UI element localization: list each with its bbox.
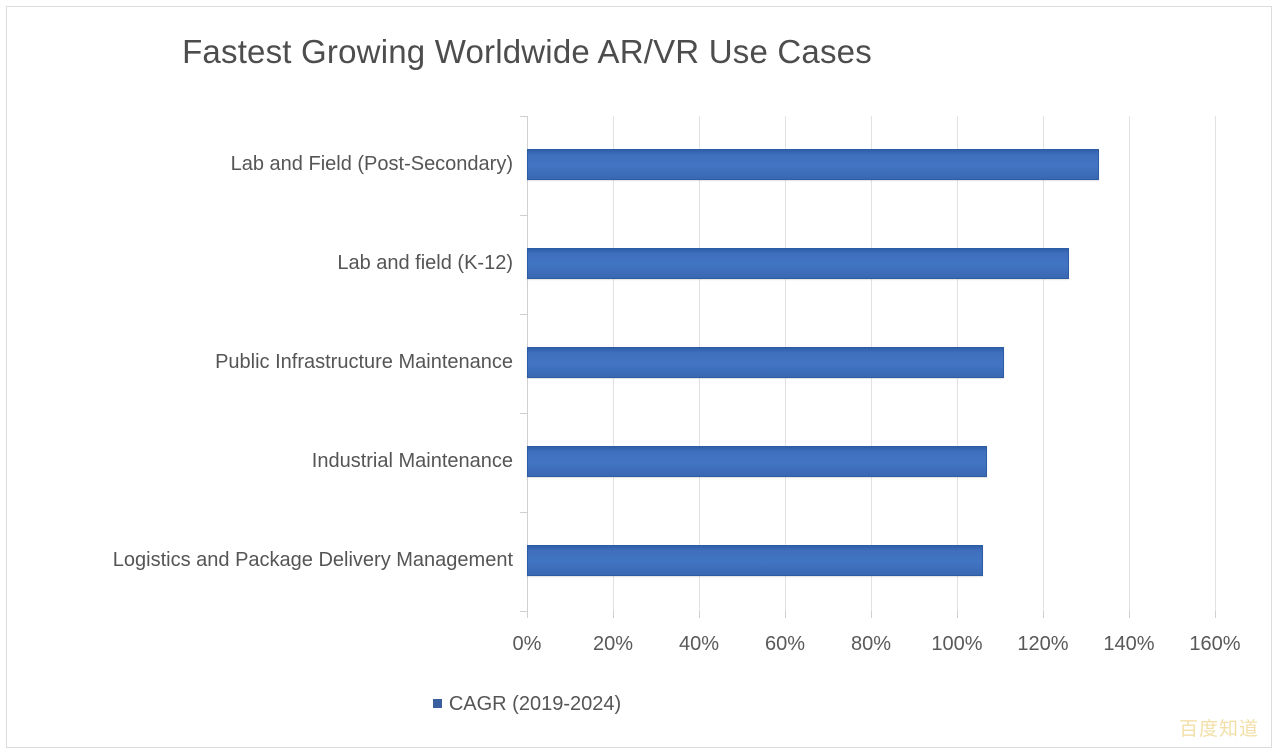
category-axis-tick [520, 314, 527, 315]
x-axis-tick-label: 40% [679, 633, 719, 656]
category-axis-tick [520, 611, 527, 612]
category-axis-tick [520, 215, 527, 216]
chart-legend: CAGR (2019-2024) [7, 693, 1047, 716]
bar-row: Industrial Maintenance [527, 413, 1215, 512]
x-axis-tick [871, 611, 872, 618]
x-axis-ticks [527, 611, 1215, 619]
x-axis-tick [613, 611, 614, 618]
bar[interactable] [527, 347, 1004, 378]
plot-area: Lab and Field (Post-Secondary)Lab and fi… [527, 116, 1215, 611]
bar-row: Lab and field (K-12) [527, 215, 1215, 314]
bar-series: Lab and Field (Post-Secondary)Lab and fi… [527, 116, 1215, 611]
category-axis-tick [520, 512, 527, 513]
bar[interactable] [527, 545, 983, 576]
bar[interactable] [527, 248, 1069, 279]
category-label: Industrial Maintenance [312, 446, 513, 477]
x-axis-labels: 0%20%40%60%80%100%120%140%160% [527, 633, 1215, 663]
x-axis-tick [957, 611, 958, 618]
x-axis-tick-label: 60% [765, 633, 805, 656]
image-frame: Fastest Growing Worldwide AR/VR Use Case… [6, 6, 1272, 748]
gridline [1215, 116, 1216, 611]
x-axis-tick [1043, 611, 1044, 618]
bar[interactable] [527, 149, 1099, 180]
x-axis-tick-label: 0% [513, 633, 542, 656]
x-axis-tick [785, 611, 786, 618]
x-axis-tick [1215, 611, 1216, 618]
category-axis-tick [520, 413, 527, 414]
category-label: Public Infrastructure Maintenance [215, 347, 513, 378]
x-axis-tick [1129, 611, 1130, 618]
legend-swatch-icon [433, 699, 442, 708]
category-axis-tick [520, 116, 527, 117]
bar-row: Public Infrastructure Maintenance [527, 314, 1215, 413]
bar-row: Lab and Field (Post-Secondary) [527, 116, 1215, 215]
legend-label: CAGR (2019-2024) [449, 693, 621, 716]
chart-card: Fastest Growing Worldwide AR/VR Use Case… [7, 7, 1273, 749]
category-label: Logistics and Package Delivery Managemen… [113, 545, 513, 576]
x-axis-tick [699, 611, 700, 618]
chart-screenshot: Fastest Growing Worldwide AR/VR Use Case… [0, 0, 1280, 756]
bar[interactable] [527, 446, 987, 477]
chart-title: Fastest Growing Worldwide AR/VR Use Case… [7, 33, 1047, 71]
x-axis-tick-label: 20% [593, 633, 633, 656]
x-axis-tick-label: 120% [1017, 633, 1068, 656]
legend-item-cagr: CAGR (2019-2024) [433, 693, 621, 716]
category-label: Lab and Field (Post-Secondary) [231, 149, 513, 180]
watermark: 百度知道 [1179, 714, 1259, 741]
x-axis-tick [527, 611, 528, 618]
x-axis-tick-label: 80% [851, 633, 891, 656]
x-axis-tick-label: 160% [1189, 633, 1240, 656]
x-axis-tick-label: 100% [931, 633, 982, 656]
bar-row: Logistics and Package Delivery Managemen… [527, 512, 1215, 611]
category-label: Lab and field (K-12) [337, 248, 513, 279]
x-axis-tick-label: 140% [1103, 633, 1154, 656]
